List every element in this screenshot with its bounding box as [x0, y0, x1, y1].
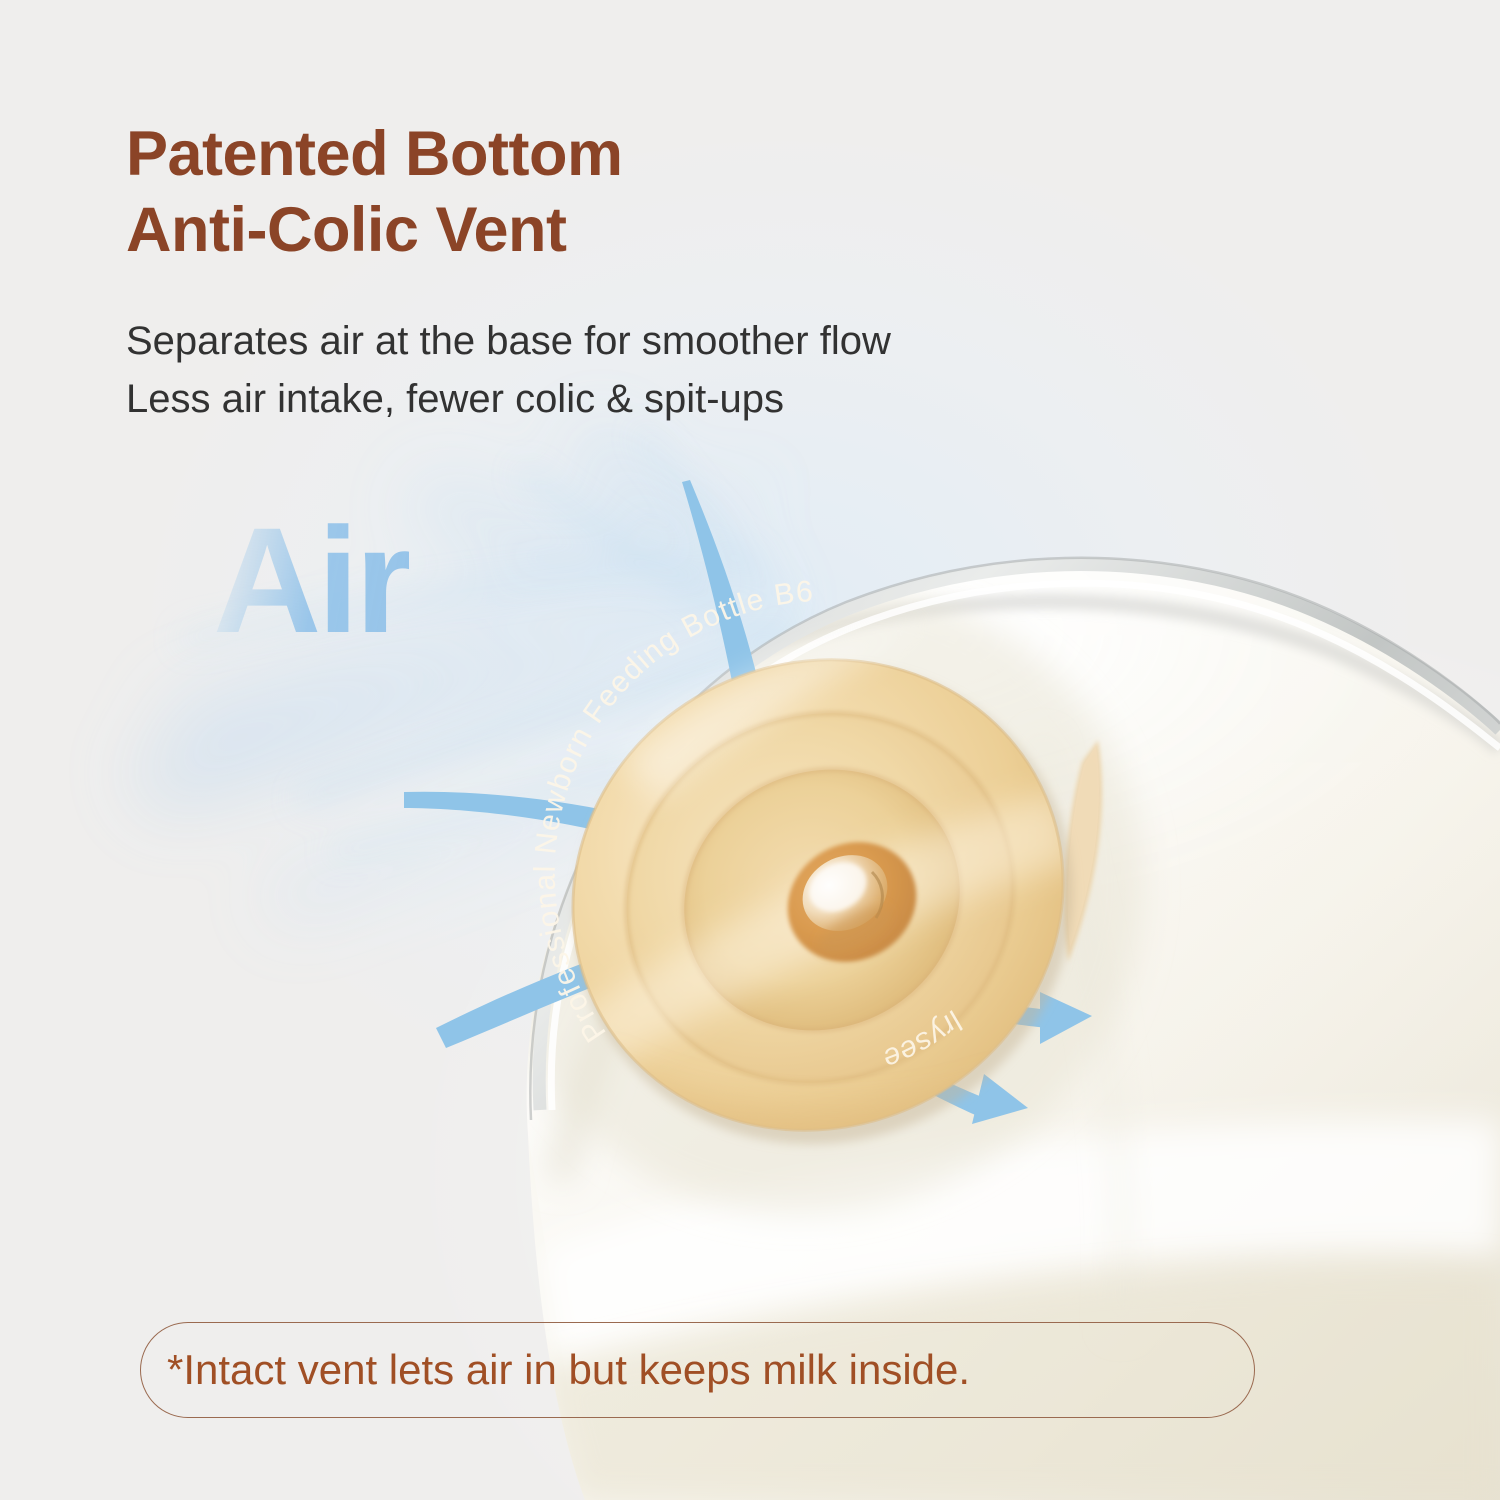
- air-label: Air: [213, 505, 409, 655]
- page-title: Patented Bottom Anti-Colic Vent: [126, 116, 623, 268]
- footnote-text: *Intact vent lets air in but keeps milk …: [141, 1346, 970, 1394]
- footnote-badge: *Intact vent lets air in but keeps milk …: [140, 1322, 1255, 1418]
- page-subtitle: Separates air at the base for smoother f…: [126, 312, 891, 428]
- marketing-banner: Professional Newborn Feeding Bottle B6 l…: [0, 0, 1500, 1500]
